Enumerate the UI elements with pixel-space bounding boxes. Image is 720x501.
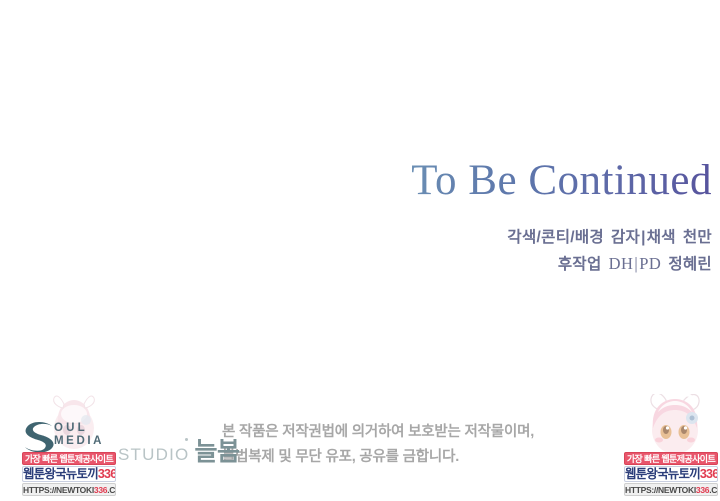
soul-s-mark-icon <box>22 419 56 453</box>
credits-line-1: 각색/콘티/배경감자|채색천만 <box>152 225 712 251</box>
credit-role-adaptation: 각색/콘티/배경 <box>507 229 604 246</box>
watermark-url-prefix-2: HTTPS://NEWTOKI <box>625 485 696 495</box>
credit-name-adaptation: 감자 <box>611 229 640 246</box>
credit-role-postwork: 후작업 <box>558 256 602 273</box>
credits-line-2: 후작업DH|PD정혜린 <box>152 251 712 278</box>
copyright-notice: 본 작품은 저작권법에 의거하여 보호받는 저작물이며, 불법복제 및 무단 유… <box>222 420 534 470</box>
watermark-site-number-2: 336 <box>700 467 718 481</box>
credit-separator: | <box>640 229 647 246</box>
credits-block: 각색/콘티/배경감자|채색천만 후작업DH|PD정혜린 <box>152 225 712 278</box>
title-block: To Be Continued <box>0 158 712 203</box>
watermark-tagline-2: 가장 빠른 웹툰제공사이트 <box>624 452 718 465</box>
watermark-url-number-2: 336 <box>696 485 709 495</box>
watermark-site-name: 웹툰왕국뉴토끼336 <box>22 466 116 482</box>
credit-name-postwork: DH <box>609 254 634 273</box>
watermark-url: HTTPS://NEWTOKI336.COM <box>22 483 116 496</box>
copyright-line-2: 불법복제 및 무단 유포, 공유를 금합니다. <box>222 445 534 470</box>
watermark-site-label: 웹툰왕국뉴토끼 <box>23 467 98 481</box>
watermark-url-suffix-2: .COM <box>709 485 718 495</box>
watermark-right: 가장 빠른 웹툰제공사이트 웹툰왕국뉴토끼336 HTTPS://NEWTOKI… <box>624 452 718 496</box>
credit-name-coloring: 천만 <box>683 229 712 246</box>
soul-media-wordmark: OUL MEDIA <box>54 422 104 448</box>
watermark-left: 가장 빠른 웹툰제공사이트 웹툰왕국뉴토끼336 HTTPS://NEWTOKI… <box>22 452 116 496</box>
credit-name-pd: 정혜린 <box>668 256 712 273</box>
episode-end-card: To Be Continued 각색/콘티/배경감자|채색천만 후작업DH|PD… <box>0 0 720 501</box>
watermark-url-number: 336 <box>94 485 107 495</box>
studio-korean-name: 늘봄 <box>194 432 239 468</box>
soul-media-line-2: MEDIA <box>54 435 104 448</box>
copyright-line-1: 본 작품은 저작권법에 의거하여 보호받는 저작물이며, <box>222 420 534 445</box>
soul-media-line-1: OUL <box>54 422 104 435</box>
watermark-site-number: 336 <box>98 467 116 481</box>
page-title: To Be Continued <box>411 158 712 203</box>
studio-word-text: STUDIO <box>118 445 189 464</box>
watermark-site-label-2: 웹툰왕국뉴토끼 <box>625 467 700 481</box>
credit-role-pd: PD <box>639 254 661 273</box>
credit-role-coloring: 채색 <box>647 229 676 246</box>
studio-sparkle-icon <box>185 438 188 441</box>
watermark-url-2: HTTPS://NEWTOKI336.COM <box>624 483 718 496</box>
watermark-tagline: 가장 빠른 웹툰제공사이트 <box>22 452 116 465</box>
watermark-url-prefix: HTTPS://NEWTOKI <box>23 485 94 495</box>
studio-neulbom-logo: STUDIO 늘봄 <box>118 432 239 468</box>
watermark-site-name-2: 웹툰왕국뉴토끼336 <box>624 466 718 482</box>
studio-wordmark: STUDIO <box>118 445 189 465</box>
character-illustration-right <box>636 394 710 458</box>
watermark-url-suffix: .COM <box>107 485 116 495</box>
